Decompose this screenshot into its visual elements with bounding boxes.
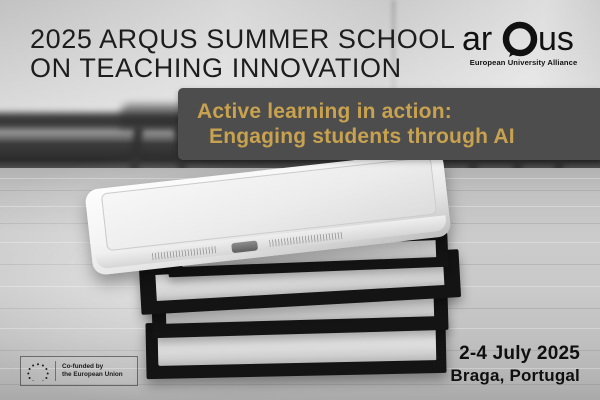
arqus-wordmark: ar us [462, 20, 584, 58]
event-details: 2-4 July 2025 Braga, Portugal [450, 343, 580, 386]
eu-funding-line-1: Co-funded by [62, 363, 123, 371]
eu-stars-svg [25, 361, 51, 381]
arqus-wordmark-svg: ar us [462, 20, 584, 58]
eu-funding-text: Co-funded by the European Union [56, 363, 123, 380]
subtitle-line-1: Active learning in action: [197, 99, 589, 124]
svg-text:us: us [538, 20, 574, 58]
eu-funding-badge: Co-funded by the European Union [20, 356, 138, 386]
subtitle-banner: Active learning in action: Engaging stud… [178, 88, 600, 160]
eu-stars-circle-icon [21, 358, 55, 384]
arqus-logo-tagline: European University Alliance [463, 58, 584, 67]
poster-header: 2025 ARQUS SUMMER SCHOOL ON TEACHING INN… [0, 0, 600, 92]
eu-funding-line-2: the European Union [62, 371, 123, 379]
page-title: 2025 ARQUS SUMMER SCHOOL ON TEACHING INN… [30, 25, 450, 83]
title-line-2: ON TEACHING INNOVATION [30, 54, 450, 83]
subtitle-line-2: Engaging students through AI [197, 124, 589, 149]
arqus-logo: ar us European University Alliance [462, 20, 584, 76]
event-location: Braga, Portugal [450, 365, 580, 386]
title-line-1: 2025 ARQUS SUMMER SCHOOL [30, 25, 450, 54]
svg-text:ar: ar [462, 20, 492, 58]
event-dates: 2-4 July 2025 [450, 343, 580, 365]
subtitle-text: Active learning in action: Engaging stud… [197, 99, 589, 149]
poster-canvas: 2025 ARQUS SUMMER SCHOOL ON TEACHING INN… [0, 0, 600, 400]
